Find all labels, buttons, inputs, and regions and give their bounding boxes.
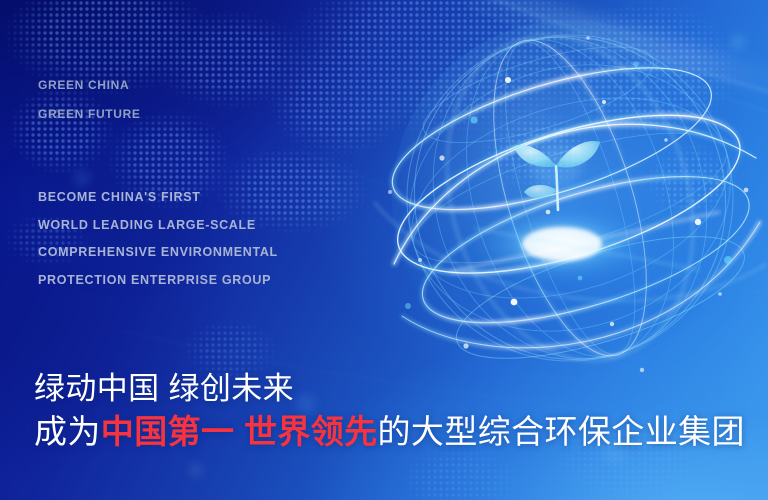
tagline-en-top-line-2: GREEN FUTURE — [38, 100, 141, 129]
slogan-en-line-4: PROTECTION ENTERPRISE GROUP — [38, 267, 278, 295]
tagline-en-top: GREEN CHINA GREEN FUTURE — [38, 71, 141, 129]
headline-cn-line-1: 绿动中国 绿创未来 — [34, 368, 745, 410]
headline-cn-highlight: 中国第一 世界领先 — [101, 413, 378, 450]
banner-hero: GREEN CHINA GREEN FUTURE BECOME CHINA'S … — [0, 0, 768, 500]
slogan-en-line-2: WORLD LEADING LARGE-SCALE — [38, 212, 278, 240]
headline-cn-block: 绿动中国 绿创未来 成为中国第一 世界领先的大型综合环保企业集团 — [34, 368, 745, 454]
slogan-en-line-1: BECOME CHINA'S FIRST — [38, 184, 278, 212]
slogan-en-block: BECOME CHINA'S FIRST WORLD LEADING LARGE… — [38, 184, 278, 294]
headline-cn-suffix: 的大型综合环保企业集团 — [378, 413, 745, 450]
headline-cn-line-2: 成为中国第一 世界领先的大型综合环保企业集团 — [34, 410, 745, 454]
headline-cn-prefix: 成为 — [34, 413, 101, 450]
slogan-en-line-3: COMPREHENSIVE ENVIRONMENTAL — [38, 239, 278, 267]
tagline-en-top-line-1: GREEN CHINA — [38, 71, 141, 100]
